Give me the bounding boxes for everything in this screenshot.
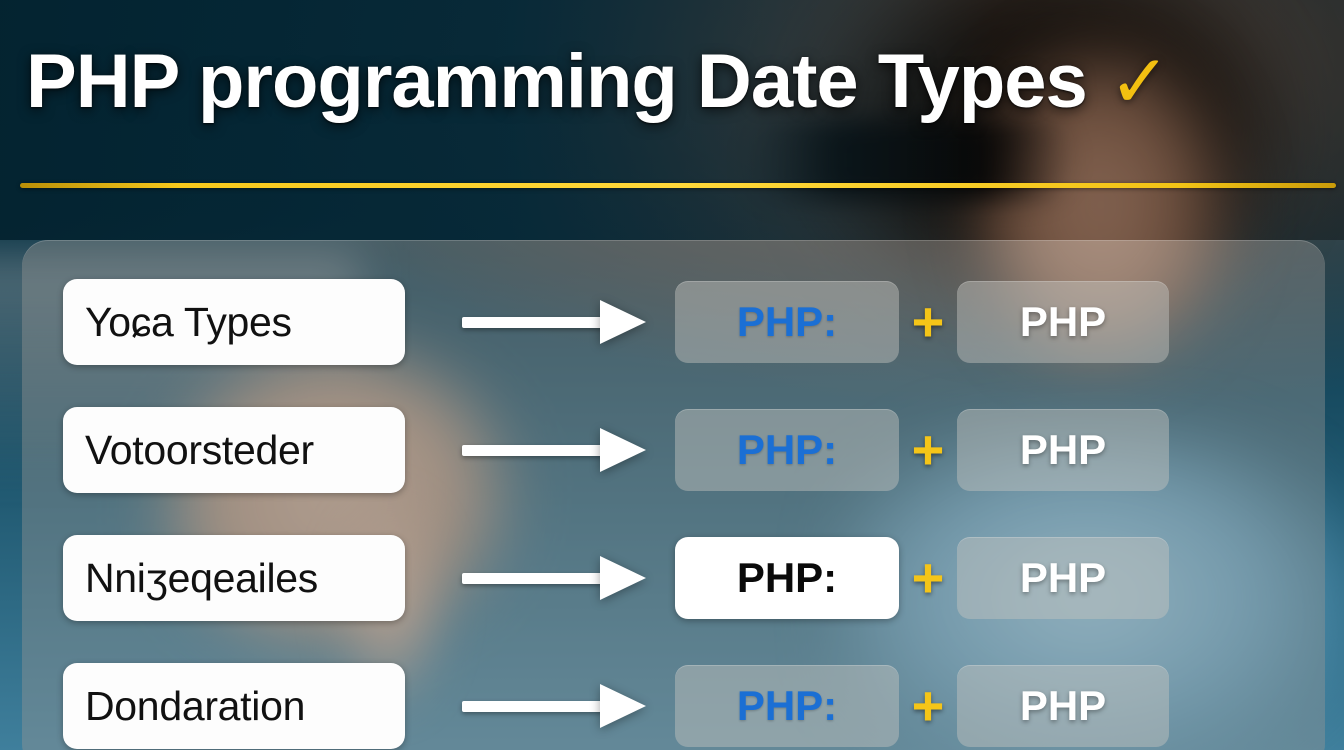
- chip-php-colon[interactable]: PHP:: [675, 537, 899, 619]
- row-label-pill[interactable]: Nniʒeqeailes: [63, 535, 405, 621]
- page-title: PHP programming Date Types ✓: [26, 44, 1318, 120]
- page-title-text: PHP programming Date Types: [26, 44, 1087, 120]
- row-label-pill[interactable]: Votoorsteder: [63, 407, 405, 493]
- arrow-shaft: [462, 317, 612, 328]
- chip-php-colon[interactable]: PHP:: [675, 665, 899, 747]
- plus-icon: +: [899, 550, 957, 606]
- list-item[interactable]: Nniʒeqeailes PHP: + PHP: [22, 532, 1325, 624]
- header: PHP programming Date Types ✓: [0, 0, 1344, 240]
- arrow-right-icon: [462, 428, 657, 472]
- row-label-text: Yoɕa Types: [85, 302, 292, 343]
- slide-root: PHP programming Date Types ✓ Yoɕa Types …: [0, 0, 1344, 750]
- arrow-right-icon: [462, 684, 657, 728]
- plus-icon: +: [899, 678, 957, 734]
- row-label-text: Votoorsteder: [85, 430, 314, 471]
- row-label-pill[interactable]: Dondaration: [63, 663, 405, 749]
- arrow-shaft: [462, 701, 612, 712]
- list-item[interactable]: Votoorsteder PHP: + PHP: [22, 404, 1325, 496]
- arrow-head: [600, 684, 646, 728]
- arrow-head: [600, 300, 646, 344]
- list-item[interactable]: Yoɕa Types PHP: + PHP: [22, 276, 1325, 368]
- chip-php[interactable]: PHP: [957, 665, 1169, 747]
- arrow-shaft: [462, 445, 612, 456]
- arrow-head: [600, 556, 646, 600]
- title-divider: [20, 183, 1336, 188]
- mapping-list: Yoɕa Types PHP: + PHP Votoorsteder: [22, 240, 1325, 750]
- list-item[interactable]: Dondaration PHP: + PHP: [22, 660, 1325, 750]
- chip-php[interactable]: PHP: [957, 409, 1169, 491]
- arrow-head: [600, 428, 646, 472]
- chip-php-colon[interactable]: PHP:: [675, 409, 899, 491]
- row-label-text: Nniʒeqeailes: [85, 558, 318, 599]
- chip-php[interactable]: PHP: [957, 281, 1169, 363]
- content-card: Yoɕa Types PHP: + PHP Votoorsteder: [22, 240, 1325, 750]
- chip-php-colon[interactable]: PHP:: [675, 281, 899, 363]
- check-icon: ✓: [1109, 45, 1170, 119]
- arrow-shaft: [462, 573, 612, 584]
- arrow-right-icon: [462, 300, 657, 344]
- row-label-pill[interactable]: Yoɕa Types: [63, 279, 405, 365]
- plus-icon: +: [899, 294, 957, 350]
- chip-php[interactable]: PHP: [957, 537, 1169, 619]
- arrow-right-icon: [462, 556, 657, 600]
- row-label-text: Dondaration: [85, 686, 305, 727]
- plus-icon: +: [899, 422, 957, 478]
